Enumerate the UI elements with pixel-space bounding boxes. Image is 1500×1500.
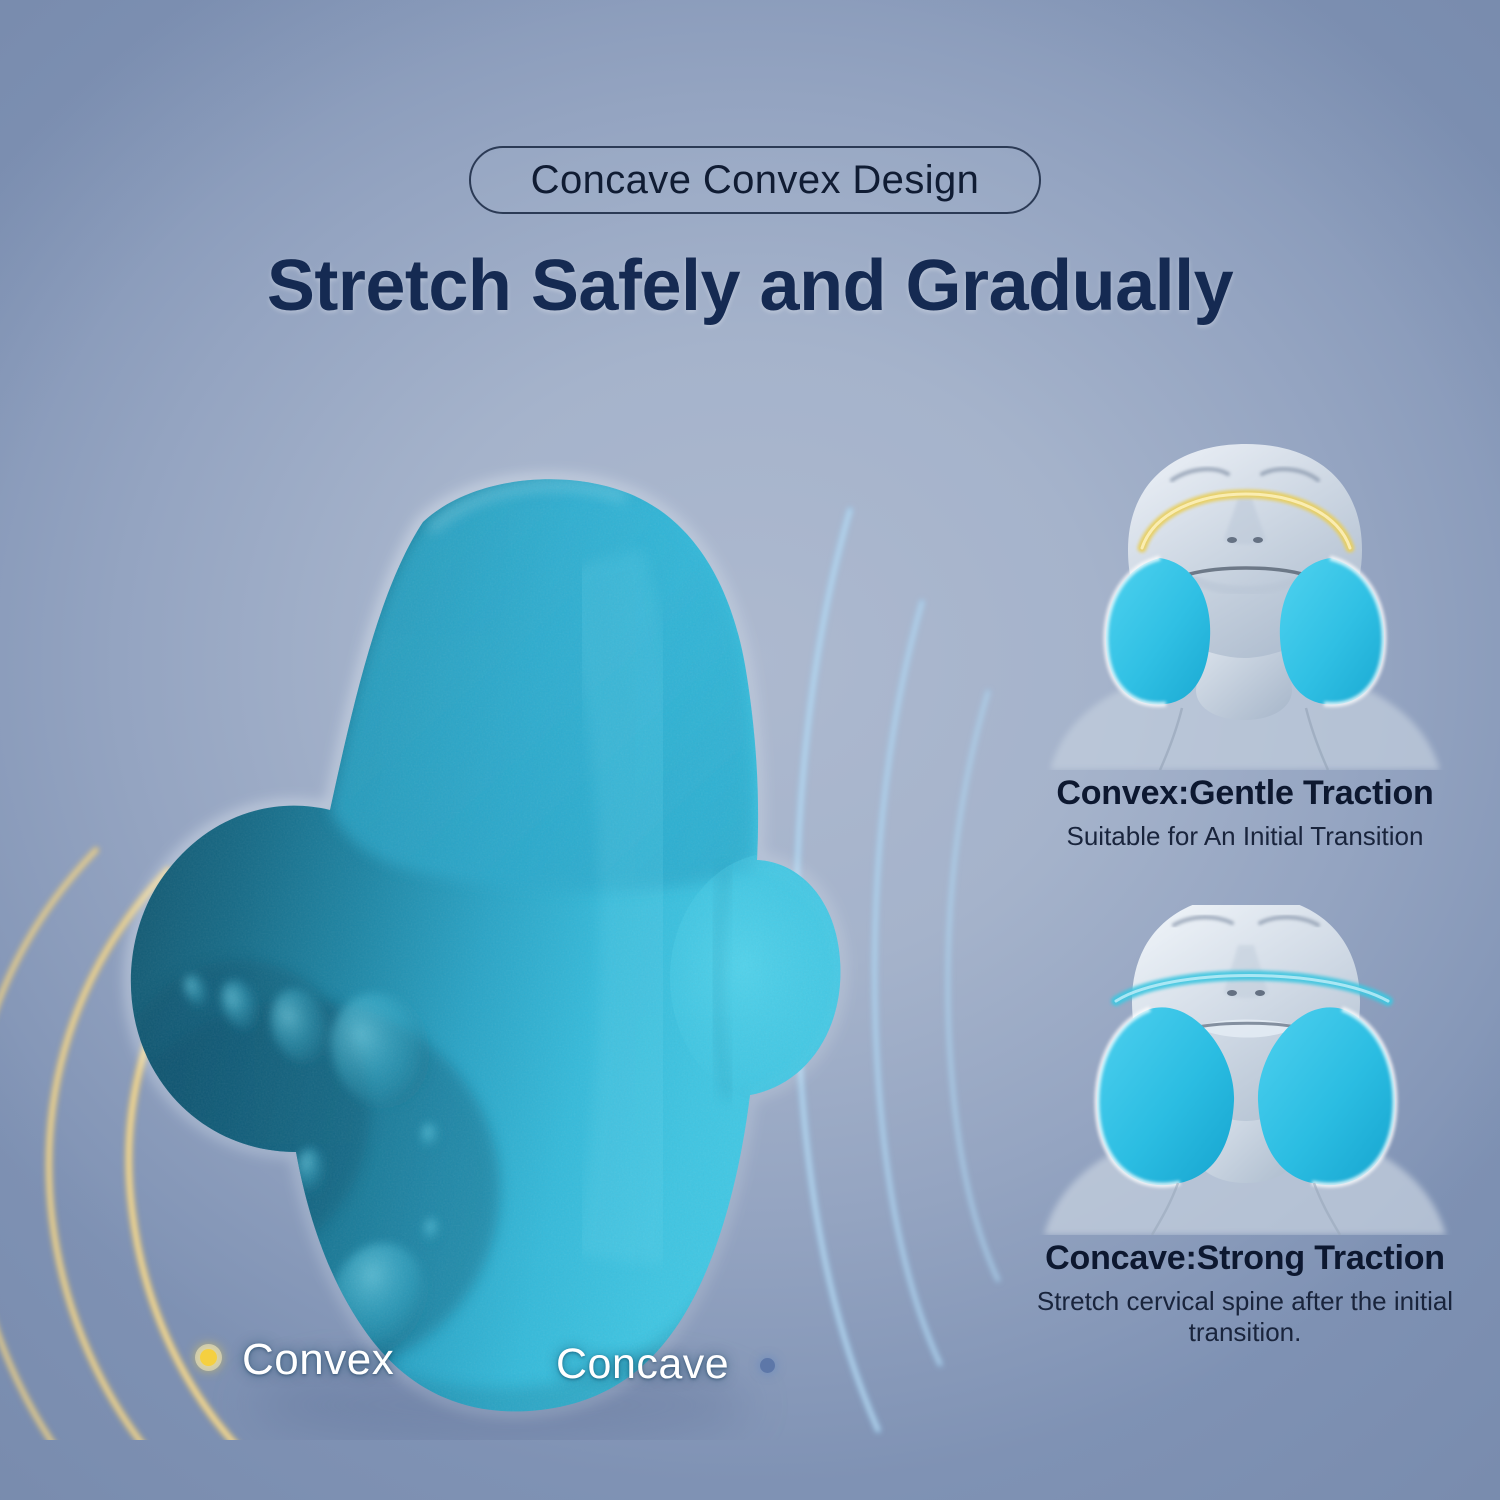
illustration-convex bbox=[1010, 440, 1480, 770]
panel-concave-subtitle: Stretch cervical spine after the initial… bbox=[1010, 1286, 1480, 1347]
design-badge: Concave Convex Design bbox=[469, 146, 1041, 214]
illustration-concave bbox=[1010, 905, 1480, 1235]
panel-convex-title: Convex:Gentle Traction bbox=[1010, 774, 1480, 813]
design-badge-label: Concave Convex Design bbox=[531, 158, 980, 203]
convex-marker-dot bbox=[200, 1349, 217, 1366]
panel-convex: Convex:Gentle Traction Suitable for An I… bbox=[1010, 440, 1480, 852]
convex-label: Convex bbox=[242, 1335, 394, 1385]
page-headline: Stretch Safely and Gradually bbox=[0, 245, 1500, 327]
concave-marker-dot bbox=[760, 1358, 775, 1373]
panel-convex-subtitle: Suitable for An Initial Transition bbox=[1010, 821, 1480, 852]
product-stage: Convex Concave bbox=[0, 430, 1020, 1440]
panel-concave: Concave:Strong Traction Stretch cervical… bbox=[1010, 905, 1480, 1347]
neck-stretcher-pillow bbox=[0, 430, 1020, 1440]
pillow-right-wing bbox=[1280, 558, 1384, 704]
concave-label: Concave bbox=[556, 1340, 729, 1389]
panel-concave-title: Concave:Strong Traction bbox=[1010, 1239, 1480, 1278]
product-illustration bbox=[0, 430, 1020, 1440]
pillow-left-wing bbox=[1106, 558, 1210, 704]
